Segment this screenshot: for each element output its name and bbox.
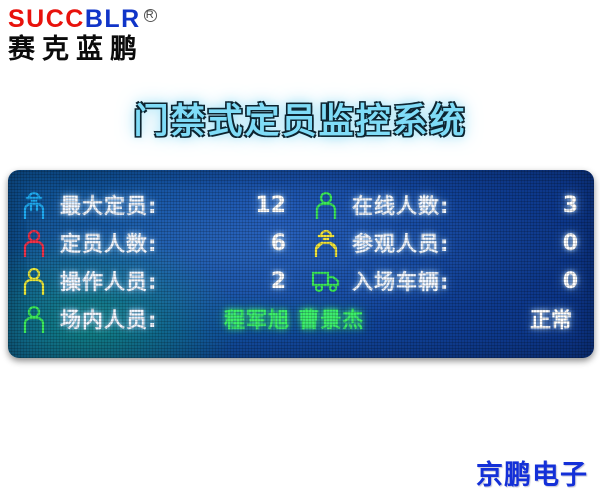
- person-green-icon: [8, 305, 60, 333]
- brand-latin-primary: SUCC: [8, 5, 85, 33]
- brand-logo: SUCCBLRR 赛克蓝鹏: [8, 4, 208, 70]
- led-row: 最大定员: 12 在线人数: 3: [8, 186, 594, 224]
- led-rows-container: 最大定员: 12 在线人数: 3: [8, 170, 594, 358]
- label-online-count: 在线人数:: [352, 190, 502, 220]
- footer-company-mark: 京鹏电子: [476, 453, 588, 492]
- led-row-onsite: 场内人员: 程军旭 曹景杰 正常: [8, 300, 594, 338]
- led-row: 操作人员: 2 入场车辆: 0: [8, 262, 594, 300]
- label-operator-count: 操作人员:: [60, 266, 210, 296]
- brand-chinese-name: 赛克蓝鹏: [8, 33, 208, 67]
- value-staff-count: 6: [210, 231, 286, 256]
- page-title: 门禁式定员监控系统: [0, 93, 600, 144]
- value-max-capacity: 12: [210, 193, 286, 218]
- person-hardhat-yellow-icon: [300, 229, 352, 257]
- label-visitor-count: 参观人员:: [352, 228, 502, 258]
- value-visitor-count: 0: [502, 231, 578, 256]
- person-green-icon: [300, 191, 352, 219]
- brand-latin-wordmark: SUCCBLRR: [8, 4, 208, 34]
- status-badge: 正常: [476, 304, 594, 334]
- value-vehicle-count: 0: [502, 269, 578, 294]
- person-hardhat-blue-icon: [8, 191, 60, 219]
- registered-trademark-icon: R: [144, 9, 157, 22]
- led-display-panel: 最大定员: 12 在线人数: 3: [8, 170, 594, 358]
- person-red-icon: [8, 229, 60, 257]
- label-onsite-personnel: 场内人员:: [60, 304, 210, 334]
- led-row: 定员人数: 6 参观人员: 0: [8, 224, 594, 262]
- onsite-personnel-names: 程军旭 曹景杰: [210, 304, 476, 334]
- brand-latin-secondary: BLR: [85, 5, 141, 33]
- person-yellow-icon: [8, 267, 60, 295]
- label-max-capacity: 最大定员:: [60, 190, 210, 220]
- label-staff-count: 定员人数:: [60, 228, 210, 258]
- truck-green-icon: [300, 269, 352, 293]
- label-vehicle-count: 入场车辆:: [352, 266, 502, 296]
- value-online-count: 3: [502, 193, 578, 218]
- value-operator-count: 2: [210, 269, 286, 294]
